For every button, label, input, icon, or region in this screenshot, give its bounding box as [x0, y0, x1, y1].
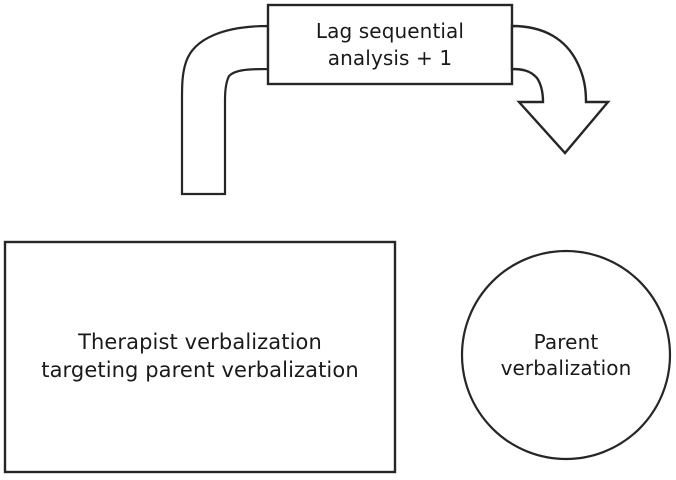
diagram-canvas: Lag sequential analysis + 1 Therapist ve… [0, 0, 676, 480]
lag-box-label: Lag sequential analysis + 1 [268, 5, 512, 84]
parent-circle-label: Parent verbalization [461, 250, 671, 460]
curved-arrow-connector-shape [512, 26, 608, 153]
curved-elbow-connector-shape [182, 26, 268, 194]
therapist-rect-label: Therapist verbalization targeting parent… [5, 242, 395, 472]
